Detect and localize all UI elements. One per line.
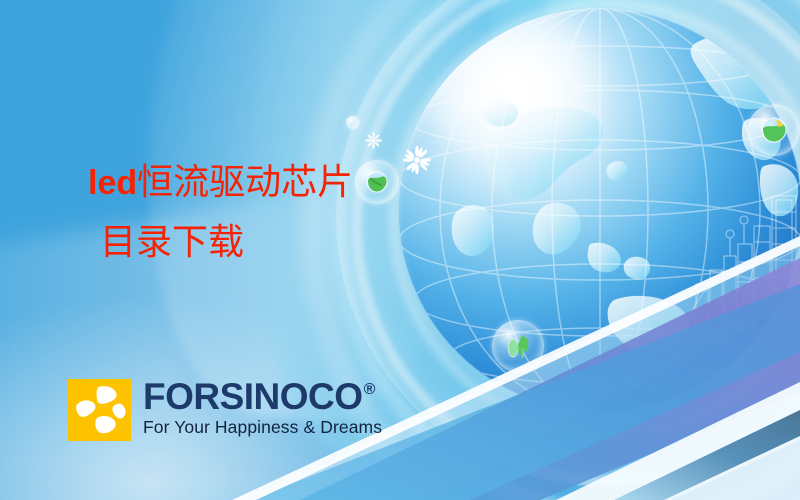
company-logo[interactable]: FORSINOCO ® For Your Happiness & Dreams [68, 379, 382, 441]
headline-line-1: led恒流驱动芯片 [88, 164, 353, 200]
promotional-banner: led恒流驱动芯片 目录下载 FORSINOCO ® For Your Happ… [0, 0, 800, 500]
headline-cjk-words: 恒流驱动芯片 [137, 162, 353, 202]
logo-text-group: FORSINOCO ® For Your Happiness & Dreams [143, 379, 382, 437]
logo-brand-name: FORSINOCO [143, 379, 363, 415]
headline-latin-word: led [88, 164, 137, 202]
four-petal-pinwheel-icon [68, 379, 131, 441]
logo-wordmark: FORSINOCO ® [143, 379, 382, 415]
headline-text: led恒流驱动芯片 目录下载 [88, 164, 353, 260]
headline-line-2: 目录下载 [100, 224, 353, 260]
registered-trademark-icon: ® [364, 382, 375, 398]
logo-tagline: For Your Happiness & Dreams [143, 419, 382, 437]
